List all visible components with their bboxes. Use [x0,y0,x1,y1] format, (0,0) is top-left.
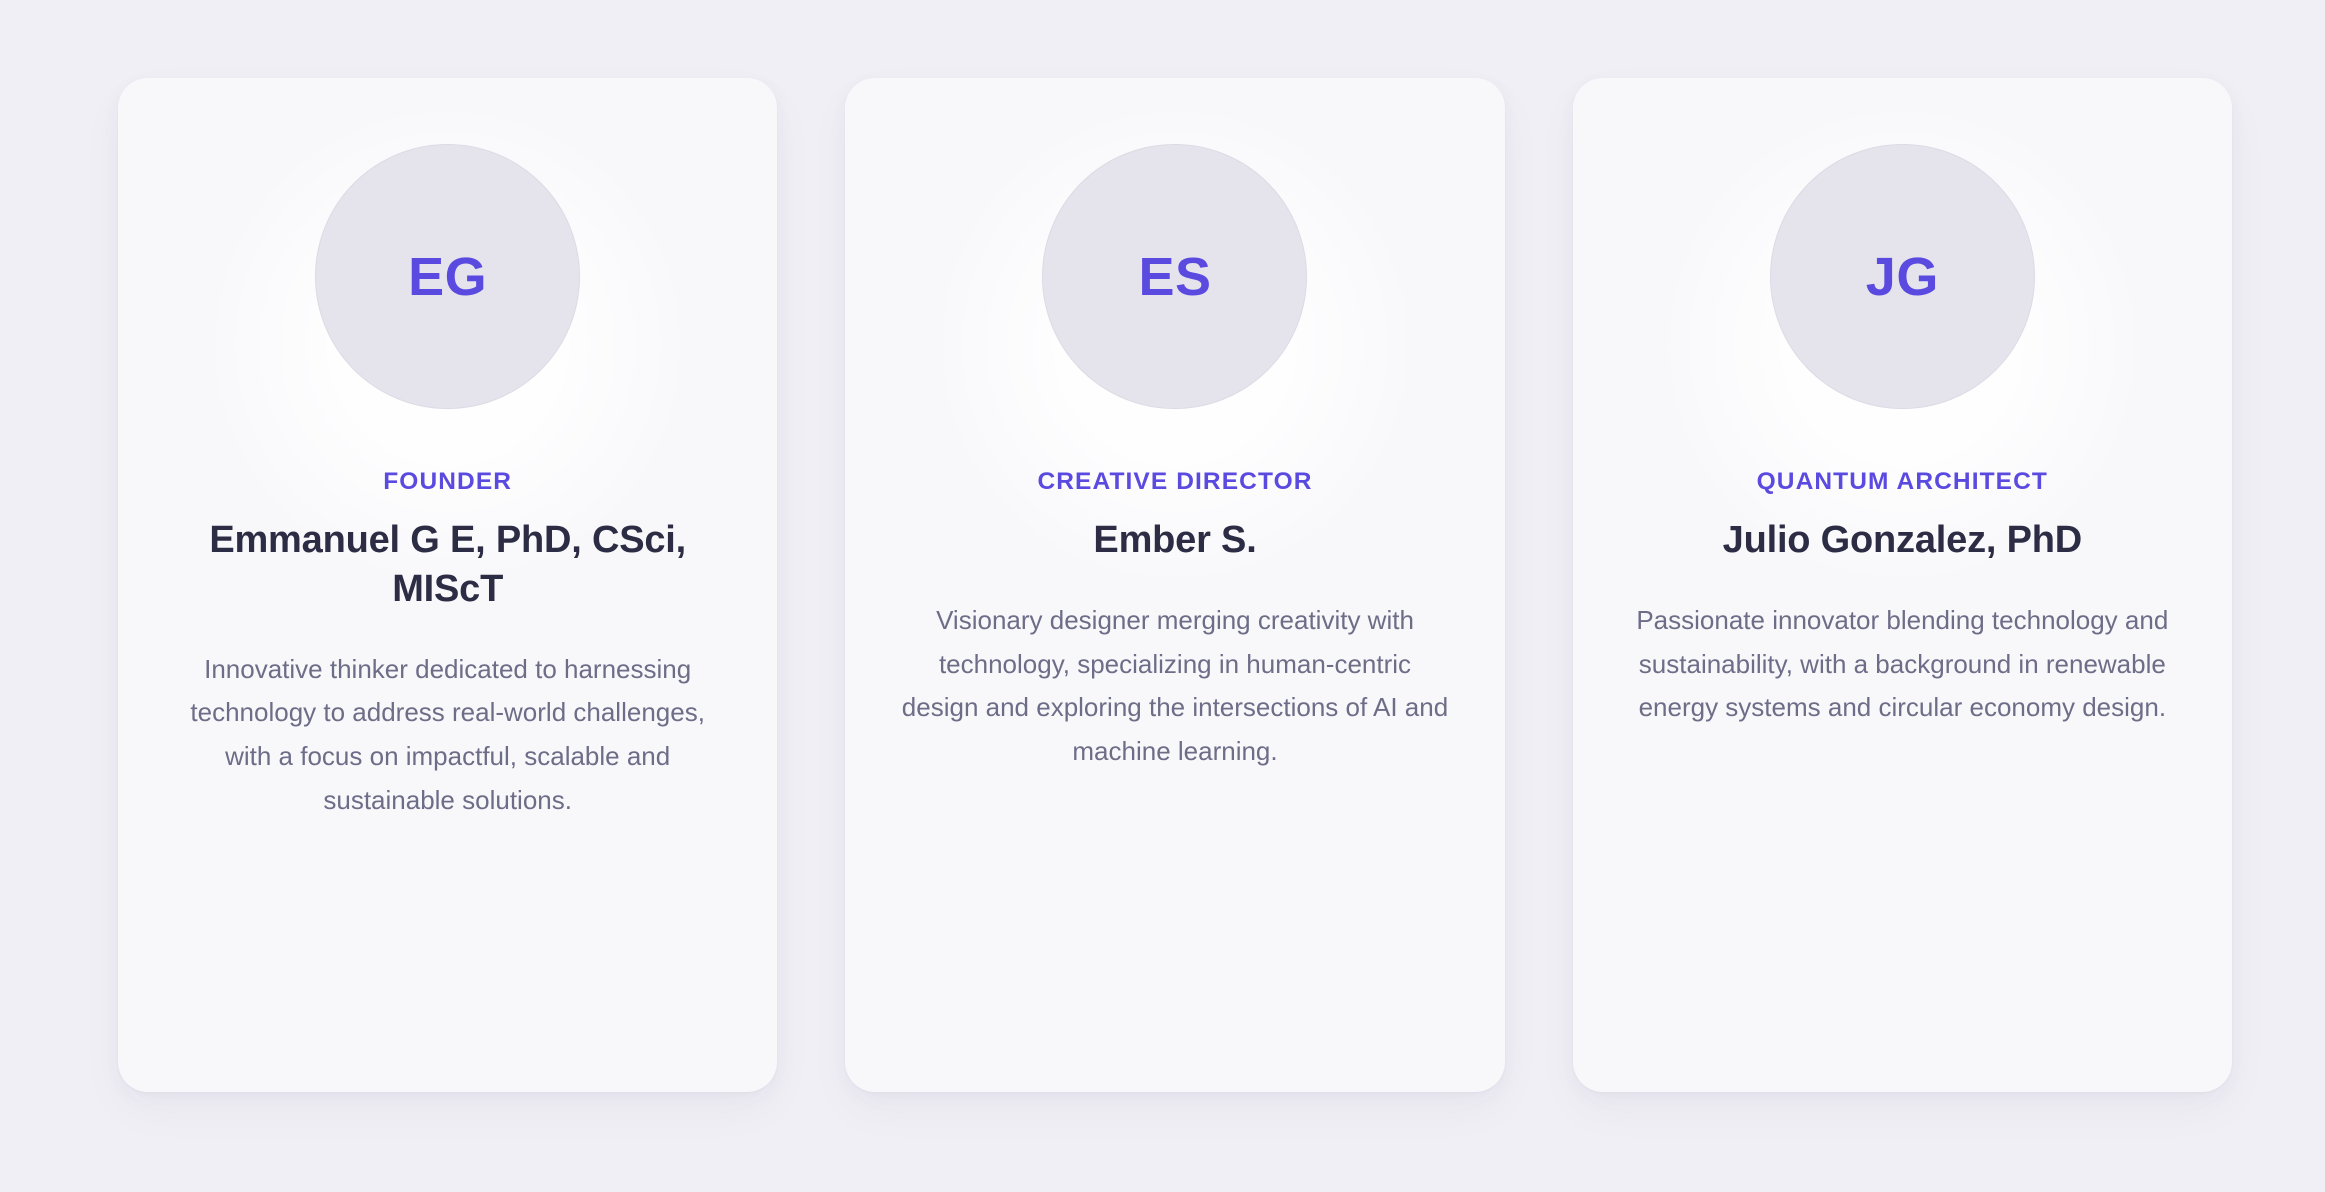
team-member-card[interactable]: ES CREATIVE DIRECTOR Ember S. Visionary … [845,78,1504,1092]
avatar: ES [1042,144,1307,409]
avatar: EG [315,144,580,409]
member-name: Emmanuel G E, PhD, CSci, MIScT [170,516,725,613]
card-body: QUANTUM ARCHITECT Julio Gonzalez, PhD Pa… [1625,409,2180,730]
member-role-label: CREATIVE DIRECTOR [1037,467,1312,496]
team-member-card[interactable]: JG QUANTUM ARCHITECT Julio Gonzalez, PhD… [1573,78,2232,1092]
team-member-card[interactable]: EG FOUNDER Emmanuel G E, PhD, CSci, MISc… [118,78,777,1092]
member-bio: Passionate innovator blending technology… [1625,599,2180,730]
team-member-grid: EG FOUNDER Emmanuel G E, PhD, CSci, MISc… [118,78,2232,1092]
member-bio: Innovative thinker dedicated to harnessi… [170,648,725,823]
card-body: CREATIVE DIRECTOR Ember S. Visionary des… [897,409,1452,774]
member-name: Ember S. [1093,516,1256,565]
member-name: Julio Gonzalez, PhD [1723,516,2082,565]
member-bio: Visionary designer merging creativity wi… [897,599,1452,774]
avatar-initials: EG [408,250,487,304]
avatar-initials: ES [1138,250,1211,304]
member-role-label: FOUNDER [383,467,512,496]
member-role-label: QUANTUM ARCHITECT [1757,467,2048,496]
avatar-initials: JG [1866,250,1939,304]
card-body: FOUNDER Emmanuel G E, PhD, CSci, MIScT I… [170,409,725,822]
avatar: JG [1770,144,2035,409]
